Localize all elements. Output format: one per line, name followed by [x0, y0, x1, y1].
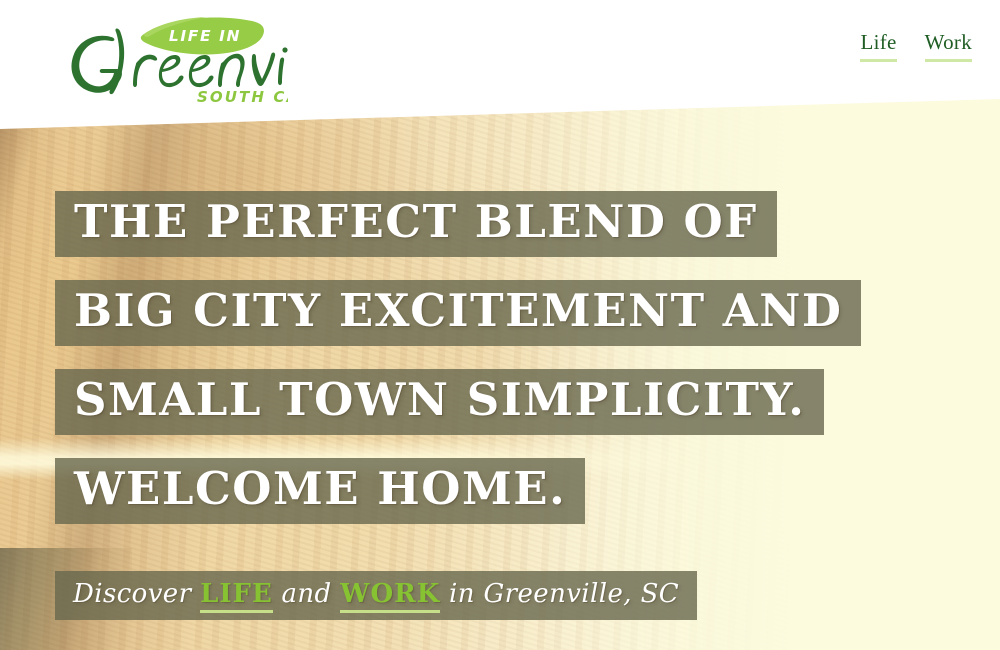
hero-subtitle-keyword-work[interactable]: WORK [340, 579, 440, 613]
hero-headline-text-2: BIG CITY EXCITEMENT AND [74, 285, 842, 337]
hero-subtitle-text: Discover LIFE and WORK in Greenville, SC [73, 577, 679, 611]
hero-headline-line-4: WELCOME HOME. [55, 458, 585, 524]
hero-headline: THE PERFECT BLEND OF BIG CITY EXCITEMENT… [55, 191, 861, 547]
main-navigation: Life Work [860, 30, 972, 62]
hero-headline-text-3: SMALL TOWN SIMPLICITY. [74, 374, 805, 426]
hero-subtitle: Discover LIFE and WORK in Greenville, SC [55, 571, 697, 620]
logo-artwork: LIFE IN SOUTH CAROLI [66, 12, 288, 108]
hero-subtitle-part-3: in Greenville, SC [440, 579, 679, 609]
site-logo[interactable]: LIFE IN SOUTH CAROLI [66, 12, 288, 108]
logo-tagline-top: LIFE IN [169, 27, 241, 45]
page-root: LIFE IN SOUTH CAROLI [0, 0, 1000, 650]
hero-subtitle-part-2: and [273, 579, 340, 609]
hero-subtitle-part-1: Discover [73, 579, 200, 609]
nav-link-life[interactable]: Life [860, 30, 896, 62]
hero-subtitle-keyword-life[interactable]: LIFE [200, 579, 273, 613]
hero-headline-text-4: WELCOME HOME. [74, 463, 566, 515]
nav-link-work[interactable]: Work [925, 30, 972, 62]
hero-headline-line-1: THE PERFECT BLEND OF [55, 191, 777, 257]
logo-state-name: SOUTH CAROLINA [197, 88, 288, 106]
hero-headline-line-3: SMALL TOWN SIMPLICITY. [55, 369, 824, 435]
hero-headline-text-1: THE PERFECT BLEND OF [74, 196, 758, 248]
hero-headline-line-2: BIG CITY EXCITEMENT AND [55, 280, 861, 346]
